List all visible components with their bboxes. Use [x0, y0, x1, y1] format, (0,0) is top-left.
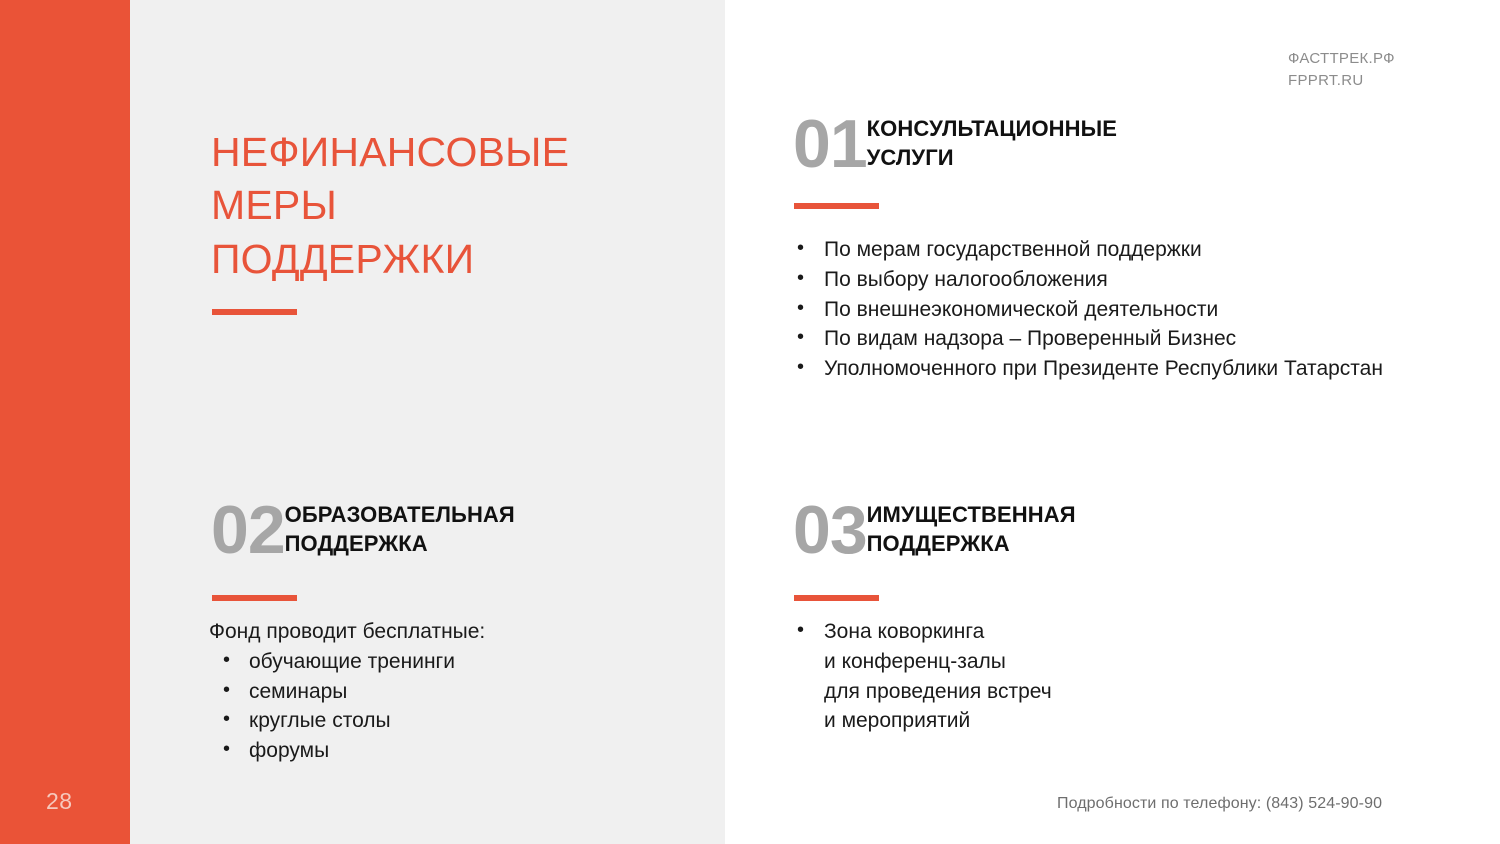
- section-01-header: 01 КОНСУЛЬТАЦИОННЫЕ УСЛУГИ: [793, 112, 1263, 177]
- bullet-line: для проведения встреч: [824, 677, 1221, 707]
- footer-contact-note: Подробности по телефону: (843) 524-90-90: [1057, 795, 1382, 813]
- list-item: По выбору налогообложения: [791, 265, 1411, 295]
- list-item: По видам надзора – Проверенный Бизнес: [791, 324, 1411, 354]
- title-accent-rule: [212, 309, 297, 315]
- list-item: форумы: [209, 736, 639, 766]
- brand-domain-com: FPPRT.RU: [1288, 70, 1395, 92]
- section-01: 01 КОНСУЛЬТАЦИОННЫЕ УСЛУГИ: [793, 112, 1263, 177]
- page-title-line-3: ПОДДЕРЖКИ: [211, 233, 691, 286]
- list-item: обучающие тренинги: [209, 647, 639, 677]
- brand-domain-ru: ФАСТТРЕК.РФ: [1288, 48, 1395, 70]
- section-01-accent-rule: [794, 203, 879, 209]
- brand-website-block: ФАСТТРЕК.РФ FPPRT.RU: [1288, 48, 1395, 92]
- bullet-line: Зона коворкинга: [824, 617, 1221, 647]
- section-02-lead-text: Фонд проводит бесплатные:: [209, 617, 639, 647]
- accent-bar-left: [0, 0, 130, 844]
- section-01-title: КОНСУЛЬТАЦИОННЫЕ УСЛУГИ: [867, 112, 1157, 172]
- section-02-content: Фонд проводит бесплатные: обучающие трен…: [209, 617, 639, 766]
- list-item: семинары: [209, 677, 639, 707]
- bullet-line: и конференц-залы: [824, 647, 1221, 677]
- section-03-accent-rule: [794, 595, 879, 601]
- section-02-accent-rule: [212, 595, 297, 601]
- section-02-title: ОБРАЗОВАТЕЛЬНАЯ ПОДДЕРЖКА: [285, 498, 575, 558]
- bullet-line: и мероприятий: [824, 706, 1221, 736]
- section-01-number: 01: [793, 112, 867, 177]
- page-title-line-1: НЕФИНАНСОВЫЕ: [211, 126, 691, 179]
- section-02-bullet-list: обучающие тренинги семинары круглые стол…: [209, 647, 639, 766]
- section-02-header: 02 ОБРАЗОВАТЕЛЬНАЯ ПОДДЕРЖКА: [211, 498, 611, 563]
- slide: 28 ФАСТТРЕК.РФ FPPRT.RU НЕФИНАНСОВЫЕ МЕР…: [0, 0, 1500, 844]
- page-number: 28: [46, 788, 73, 815]
- section-03: 03 ИМУЩЕСТВЕННАЯ ПОДДЕРЖКА: [793, 498, 1193, 563]
- section-02: 02 ОБРАЗОВАТЕЛЬНАЯ ПОДДЕРЖКА: [211, 498, 611, 563]
- page-title: НЕФИНАНСОВЫЕ МЕРЫ ПОДДЕРЖКИ: [211, 126, 691, 286]
- section-03-bullet-list: Зона коворкинга и конференц-залы для про…: [791, 617, 1221, 736]
- list-item: круглые столы: [209, 706, 639, 736]
- list-item: Зона коворкинга и конференц-залы для про…: [791, 617, 1221, 736]
- section-03-header: 03 ИМУЩЕСТВЕННАЯ ПОДДЕРЖКА: [793, 498, 1193, 563]
- page-title-line-2: МЕРЫ: [211, 179, 691, 232]
- list-item: По мерам государственной поддержки: [791, 235, 1411, 265]
- list-item: Уполномоченного при Президенте Республик…: [791, 354, 1411, 384]
- section-02-number: 02: [211, 498, 285, 563]
- section-03-title: ИМУЩЕСТВЕННАЯ ПОДДЕРЖКА: [867, 498, 1157, 558]
- section-01-bullet-list: По мерам государственной поддержки По вы…: [791, 235, 1411, 384]
- section-03-number: 03: [793, 498, 867, 563]
- list-item: По внешнеэкономической деятельности: [791, 295, 1411, 325]
- section-03-bullet-lines: Зона коворкинга и конференц-залы для про…: [824, 617, 1221, 736]
